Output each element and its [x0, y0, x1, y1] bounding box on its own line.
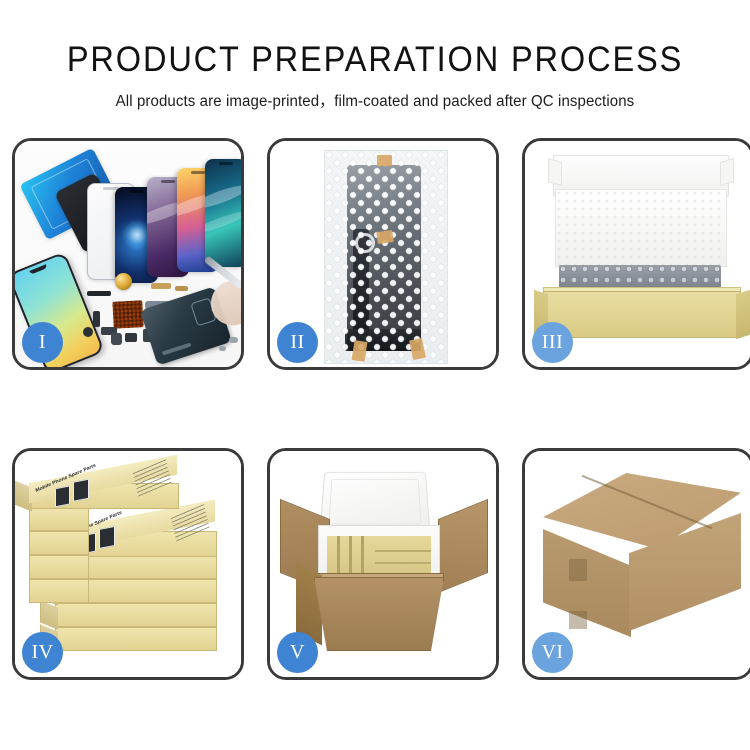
step-badge-5: V [277, 632, 318, 673]
process-steps-grid: I II [12, 138, 738, 694]
bubble-wrap-bag [324, 150, 448, 364]
speaker-coil-part [115, 273, 132, 290]
box-divider [375, 550, 431, 552]
carton-tab [569, 611, 587, 629]
product-preparation-page: PRODUCT PREPARATION PROCESS All products… [0, 0, 750, 750]
carton-front-panel [314, 577, 444, 651]
notch-icon [130, 190, 144, 193]
yellow-box-base [543, 291, 741, 338]
step-badge-2: II [277, 322, 318, 363]
page-subtitle: All products are image-printed，film-coat… [11, 89, 739, 111]
wallpaper-wave [205, 182, 241, 213]
screw-part [229, 337, 238, 343]
stacked-box-back [29, 579, 89, 603]
spare-part [87, 291, 111, 296]
process-step-panel-2: II [267, 138, 499, 370]
spare-part [151, 283, 171, 289]
copper-chip-grid-part [112, 300, 143, 329]
process-step-panel-5: V [267, 448, 499, 680]
page-title: PRODUCT PREPARATION PROCESS [26, 40, 724, 80]
white-foam-sheet [555, 189, 727, 267]
product-photo-thumb [55, 485, 70, 507]
tape-piece [377, 155, 392, 166]
notch-icon [161, 180, 175, 183]
wallpaper-wave [205, 209, 241, 238]
process-step-panel-1: I [12, 138, 244, 370]
product-photo-thumb [73, 479, 89, 502]
foam-box-lid [320, 472, 431, 533]
stacked-box-back [29, 507, 89, 531]
spare-part [175, 286, 188, 291]
stacked-box [55, 627, 217, 651]
box-divider [375, 562, 431, 564]
carton-tab [569, 559, 587, 581]
screw-part [219, 346, 226, 351]
spare-part [83, 327, 93, 337]
step-badge-1: I [22, 322, 63, 363]
spare-part [93, 311, 100, 327]
stacked-box [55, 603, 217, 627]
notch-icon [219, 162, 233, 165]
foam-texture [556, 190, 726, 266]
notch-icon [191, 171, 205, 174]
spare-part [125, 333, 137, 342]
spare-part [111, 333, 122, 345]
phone-display-teal [205, 159, 241, 267]
tape-piece [376, 230, 394, 244]
step-badge-4: IV [22, 632, 63, 673]
product-photo-thumb [99, 526, 115, 549]
process-step-panel-4: Mobile Phone Spare Parts Mobile Phone Sp… [12, 448, 244, 680]
step-badge-3: III [532, 322, 573, 363]
process-step-panel-3: III [522, 138, 750, 370]
bubble-texture [325, 151, 447, 363]
stacked-box-back [29, 555, 89, 579]
stacked-box-back [29, 531, 89, 555]
process-step-panel-6: VI [522, 448, 750, 680]
step-badge-6: VI [532, 632, 573, 673]
page-header: PRODUCT PREPARATION PROCESS All products… [0, 0, 750, 111]
